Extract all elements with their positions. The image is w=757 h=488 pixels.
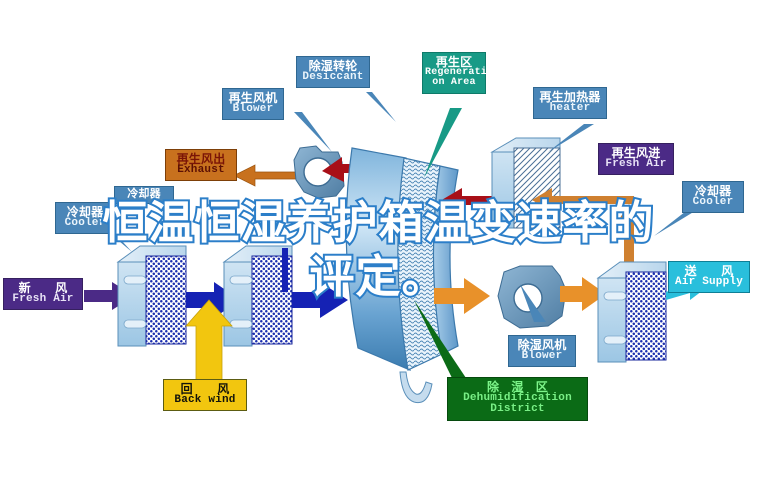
label-cooler-r-en: Cooler (685, 197, 741, 208)
label-dehumid-dist-en2: District (450, 404, 585, 415)
label-exhaust-en: Exhaust (168, 165, 234, 176)
label-desiccant-wheel[interactable]: 除湿转轮 Desiccant (296, 56, 370, 88)
label-regen-heater[interactable]: 再生加热器 heater (533, 87, 607, 119)
label-desiccant-en: Desiccant (299, 72, 367, 83)
regen-fresh-up-arrow (616, 204, 642, 266)
label-cooler-right[interactable]: 冷却器 Cooler (682, 181, 744, 213)
label-regen-area-en2: on Area (425, 78, 483, 88)
heater-coil (492, 138, 560, 228)
label-heater-en: heater (536, 103, 604, 114)
exhaust-arrow (234, 165, 296, 186)
label-dehumid-blower-en: Blower (511, 351, 573, 362)
regen-fresh-arrow (532, 188, 634, 212)
label-regen-fresh-en: Fresh Air (601, 159, 671, 170)
diagram-canvas (0, 0, 757, 488)
label-back-wind[interactable]: 回 风 Back wind (163, 379, 247, 411)
label-cooler-left-2[interactable]: 冷却器 (114, 186, 174, 204)
label-fresh-air-in[interactable]: 新 风 Fresh Air (3, 278, 83, 310)
process-arrow-2 (292, 282, 348, 318)
cooler-coil-3 (598, 262, 666, 362)
label-cooler-l1-en: Cooler (58, 218, 112, 229)
label-fresh-air-en: Fresh Air (6, 294, 80, 305)
label-air-supply-en: Air Supply (671, 277, 747, 288)
label-cooler-left-1[interactable]: 冷却器 Cooler (55, 202, 115, 234)
label-regeneration-area[interactable]: 再生区 Regenerati on Area (422, 52, 486, 94)
desiccant-rotor (346, 148, 458, 403)
label-exhaust[interactable]: 再生风出 Exhaust (165, 149, 237, 181)
dehumidification-blower (498, 266, 566, 328)
label-dehumid-district[interactable]: 除 湿 区 Dehumidification District (447, 377, 588, 421)
label-regen-fresh-air[interactable]: 再生风进 Fresh Air (598, 143, 674, 175)
label-back-wind-en: Back wind (166, 395, 244, 406)
label-air-supply[interactable]: 送 风 Air Supply (668, 261, 750, 293)
cooler-coil-2 (224, 246, 292, 346)
label-regen-blower[interactable]: 再生风机 Blower (222, 88, 284, 120)
label-dehumid-blower[interactable]: 除湿风机 Blower (508, 335, 576, 367)
dehumidifier-diagram: 除湿转轮 Desiccant 再生风机 Blower 再生区 Regenerat… (0, 0, 757, 488)
label-regen-blower-en: Blower (225, 104, 281, 115)
cooler-coil-1 (118, 246, 186, 346)
label-cooler-l2-cn: 冷却器 (117, 189, 171, 200)
